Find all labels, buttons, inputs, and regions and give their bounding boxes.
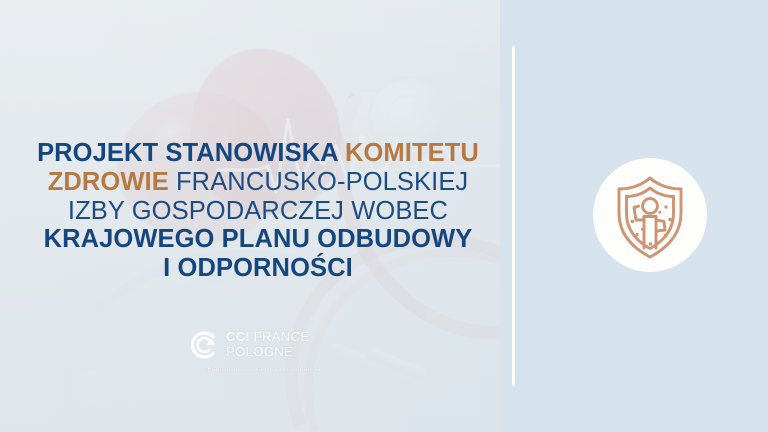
logo-main-row: CCI FRANCE POLOGNE	[189, 330, 339, 360]
headline-line-5: I ODPORNOŚCI	[0, 254, 516, 283]
headline-block: PROJEKT STANOWISKA KOMITETU ZDROWIE FRAN…	[0, 139, 516, 283]
headline-line-2-part-a: ZDROWIE	[48, 168, 176, 196]
headline-line-1: PROJEKT STANOWISKA KOMITETU	[0, 139, 516, 168]
logo-cci-text: CCI	[226, 329, 250, 344]
vertical-divider	[512, 46, 515, 386]
headline-line-2: ZDROWIE FRANCUSKO-POLSKIEJ	[0, 168, 516, 197]
cci-france-pologne-logo: CCI FRANCE POLOGNE Francusko-Polska Izba…	[189, 330, 339, 388]
logo-wordmark-line-1: CCI FRANCE	[226, 330, 309, 345]
cci-circle-mark-icon	[189, 330, 219, 360]
logo-pologne-text: POLOGNE	[226, 345, 309, 360]
logo-wordmark: CCI FRANCE POLOGNE	[226, 330, 309, 359]
headline-line-2-part-b: FRANCUSKO-POLSKIEJ	[176, 168, 468, 196]
headline-line-1-part-b: KOMITETU	[345, 139, 479, 167]
logo-subtitle: Francusko-Polska Izba Gospodarcza	[189, 366, 339, 373]
headline-line-3: IZBY GOSPODARCZEJ WOBEC	[0, 197, 516, 226]
headline-line-1-part-a: PROJEKT STANOWISKA	[37, 139, 345, 167]
shield-person-protection-icon	[593, 158, 707, 272]
icon-badge-circle	[593, 158, 707, 272]
slide-canvas: PROJEKT STANOWISKA KOMITETU ZDROWIE FRAN…	[0, 0, 768, 432]
headline-line-4: KRAJOWEGO PLANU ODBUDOWY	[0, 225, 516, 254]
logo-france-text: FRANCE	[250, 329, 310, 344]
